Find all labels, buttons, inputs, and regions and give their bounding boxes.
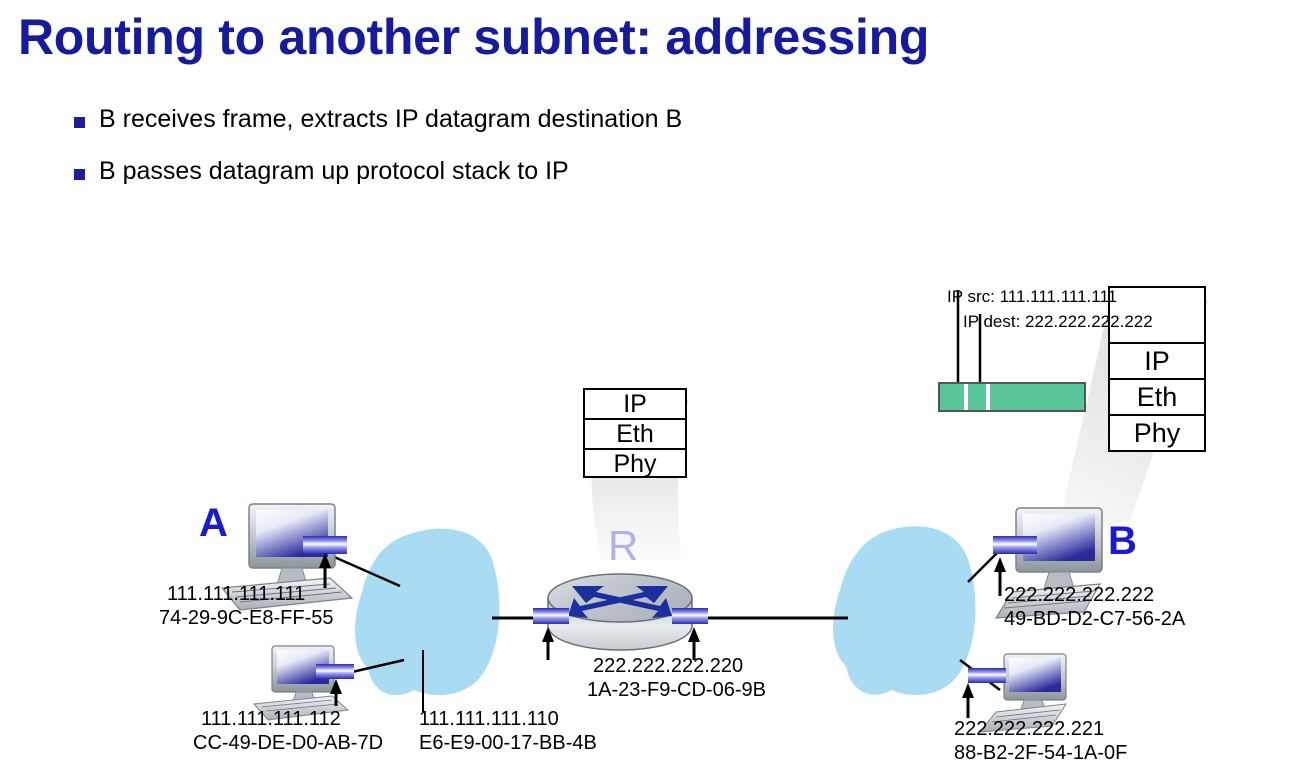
router-port-right-icon bbox=[672, 608, 708, 624]
host-b-ip: 222.222.222.222 bbox=[1004, 584, 1185, 608]
host-b2-address: 222.222.222.221 88-B2-2F-54-1A-0F bbox=[954, 718, 1127, 765]
stack-layer-ip: IP bbox=[585, 390, 685, 420]
router-label: R bbox=[608, 522, 638, 570]
datagram-separator bbox=[964, 384, 968, 410]
host-a2-mac: CC-49-DE-D0-AB-7D bbox=[193, 732, 383, 756]
router-left-ip: 111.111.111.110 bbox=[419, 708, 597, 732]
router-right-mac: 1A-23-F9-CD-06-9B bbox=[587, 679, 766, 703]
router-right-ip: 222.222.222.220 bbox=[587, 655, 766, 679]
ip-src-label: IP src: 111.111.111.111 bbox=[947, 287, 1117, 307]
router-left-mac: E6-E9-00-17-BB-4B bbox=[419, 732, 597, 756]
host-b2-ip: 222.222.222.221 bbox=[954, 718, 1127, 742]
subnet-cloud-right bbox=[833, 526, 975, 695]
datagram-separator bbox=[986, 384, 990, 410]
router-protocol-stack: IP Eth Phy bbox=[583, 388, 687, 478]
subnet-cloud-left bbox=[355, 529, 499, 695]
router-icon bbox=[533, 574, 708, 650]
stack-layer-phy: Phy bbox=[585, 450, 685, 480]
callout-layer-phy: Phy bbox=[1110, 416, 1204, 452]
host-a-address: 111.111.111.111 74-29-9C-E8-FF-55 bbox=[159, 583, 334, 630]
host-b2-nic-icon bbox=[968, 668, 1006, 683]
host-a2-ip: 111.111.111.112 bbox=[193, 708, 383, 732]
host-b-callout-box: IP Eth Phy bbox=[1108, 286, 1206, 452]
host-a-label: A bbox=[199, 501, 228, 546]
host-a-nic-icon bbox=[303, 536, 347, 554]
stack-layer-eth: Eth bbox=[585, 420, 685, 450]
host-a-mac: 74-29-9C-E8-FF-55 bbox=[159, 607, 334, 631]
host-a-ip: 111.111.111.111 bbox=[159, 583, 334, 607]
host-a2-nic-icon bbox=[316, 664, 354, 679]
ip-dest-label: IP dest: 222.222.222.222 bbox=[963, 312, 1153, 332]
host-b-address: 222.222.222.222 49-BD-D2-C7-56-2A bbox=[1004, 584, 1185, 631]
datagram-bar bbox=[938, 382, 1086, 412]
router-port-left-icon bbox=[533, 608, 569, 624]
router-left-address: 111.111.111.110 E6-E9-00-17-BB-4B bbox=[419, 708, 597, 755]
host-b-mac: 49-BD-D2-C7-56-2A bbox=[1004, 608, 1185, 632]
host-b-nic-icon bbox=[993, 536, 1037, 554]
callout-layer-ip: IP bbox=[1110, 344, 1204, 380]
host-a2-address: 111.111.111.112 CC-49-DE-D0-AB-7D bbox=[193, 708, 383, 755]
router-right-address: 222.222.222.220 1A-23-F9-CD-06-9B bbox=[587, 655, 766, 702]
host-b-label: B bbox=[1108, 519, 1137, 564]
slide-root: Routing to another subnet: addressing B … bbox=[0, 0, 1312, 776]
host-b2-mac: 88-B2-2F-54-1A-0F bbox=[954, 742, 1127, 766]
callout-layer-eth: Eth bbox=[1110, 380, 1204, 416]
